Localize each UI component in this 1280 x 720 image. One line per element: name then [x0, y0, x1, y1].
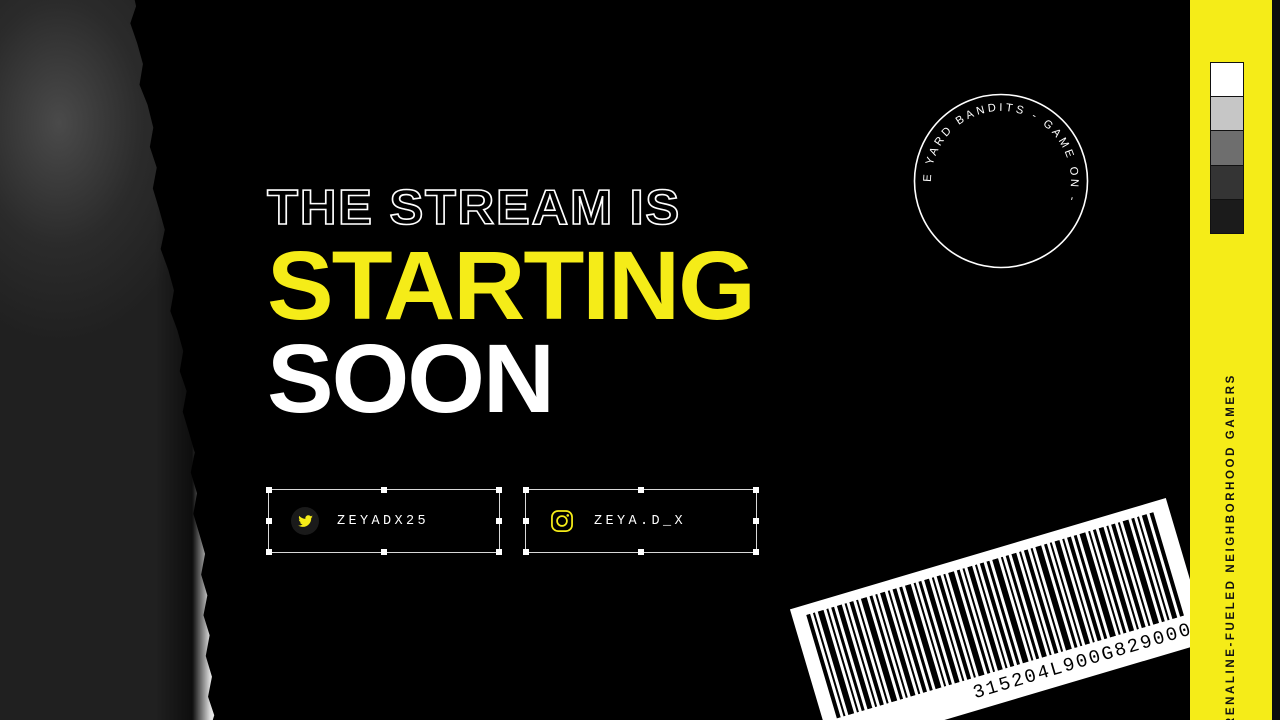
selection-handle[interactable] — [523, 487, 529, 493]
swatch-white — [1211, 63, 1243, 97]
social-box-twitter[interactable]: ZEYADX25 — [268, 489, 500, 553]
paper-tear-edge — [0, 0, 215, 720]
selection-handle[interactable] — [266, 487, 272, 493]
badge-circle-outline — [915, 95, 1088, 268]
barcode-sticker: 315204L900G829000 — [784, 475, 1229, 720]
headline-block: THE STREAM IS STARTING SOON — [267, 186, 740, 424]
headline-line-3: SOON — [267, 334, 754, 423]
instagram-handle-label: ZEYA.D_X — [594, 514, 686, 529]
swatch-light-gray — [1211, 97, 1243, 131]
swatch-near-black — [1211, 200, 1243, 233]
selection-handle[interactable] — [753, 518, 759, 524]
barcode-card: 315204L900G829000 — [790, 498, 1208, 720]
selection-handle[interactable] — [523, 549, 529, 555]
swatch-mid-gray — [1211, 131, 1243, 165]
selection-handle[interactable] — [753, 487, 759, 493]
sidebar-tagline-holder: YOUR ADRENALINE-FUELED NEIGHBORHOOD GAME… — [1190, 250, 1272, 680]
swatch-dark-gray — [1211, 166, 1243, 200]
right-sidebar: YOUR ADRENALINE-FUELED NEIGHBORHOOD GAME… — [1190, 0, 1272, 720]
social-handles-row: ZEYADX25 ZEYA.D_X — [268, 489, 757, 553]
circular-badge: THE YARD BANDITS - GAME ON - — [913, 93, 1089, 269]
selection-handle[interactable] — [381, 549, 387, 555]
badge-text: THE YARD BANDITS - GAME ON - — [913, 93, 1080, 205]
social-box-instagram[interactable]: ZEYA.D_X — [525, 489, 757, 553]
sidebar-tagline: YOUR ADRENALINE-FUELED NEIGHBORHOOD GAME… — [1225, 373, 1237, 720]
twitter-handle-label: ZEYADX25 — [337, 514, 429, 529]
right-edge-strip — [1272, 0, 1280, 720]
selection-handle[interactable] — [523, 518, 529, 524]
instagram-icon — [548, 507, 576, 535]
grayscale-swatch-column — [1210, 62, 1244, 234]
twitter-icon — [291, 507, 319, 535]
selection-handle[interactable] — [266, 518, 272, 524]
selection-handle[interactable] — [266, 549, 272, 555]
torn-paper-texture — [0, 0, 215, 720]
selection-handle[interactable] — [638, 487, 644, 493]
headline-line-2: STARTING — [267, 241, 754, 330]
badge-text-path: THE YARD BANDITS - GAME ON - — [913, 93, 1080, 205]
selection-handle[interactable] — [496, 487, 502, 493]
selection-handle[interactable] — [638, 549, 644, 555]
selection-handle[interactable] — [381, 487, 387, 493]
selection-handle[interactable] — [496, 549, 502, 555]
headline-line-1: THE STREAM IS — [267, 186, 758, 231]
selection-handle[interactable] — [496, 518, 502, 524]
selection-handle[interactable] — [753, 549, 759, 555]
stream-starting-soon-overlay: THE STREAM IS STARTING SOON THE YARD BAN… — [0, 0, 1280, 720]
